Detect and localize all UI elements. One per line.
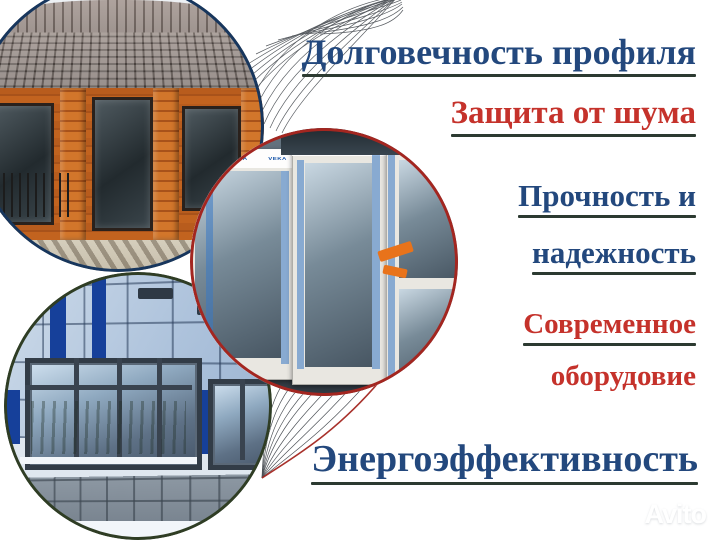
- headline-item-2: Прочность и: [518, 180, 696, 218]
- headline-underline-5: [551, 395, 696, 398]
- avito-watermark-label: Avito: [645, 499, 707, 530]
- headline-item-3: надежность: [532, 237, 696, 275]
- headline-text-6: Энергоэффективность: [311, 440, 698, 478]
- headline-list: Долговечность профиля Защита от шума Про…: [0, 0, 720, 540]
- headline-text-4: Современное: [523, 310, 696, 339]
- headline-text-5: оборудовие: [551, 362, 696, 391]
- headline-text-1: Защита от шума: [451, 97, 696, 130]
- headline-underline-2: [518, 215, 696, 218]
- headline-text-3: надежность: [532, 237, 696, 268]
- avito-logo-icon: [614, 502, 640, 528]
- headline-underline-4: [523, 343, 696, 346]
- advertisement-banner: VEKAVEKAVEKA VEKAVEKA VEKAVEKA: [0, 0, 720, 540]
- headline-underline-1: [451, 134, 696, 137]
- headline-underline-0: [302, 74, 696, 77]
- headline-item-1: Защита от шума: [451, 97, 696, 137]
- headline-text-0: Долговечность профиля: [302, 34, 696, 70]
- headline-item-6: Энергоэффективность: [311, 440, 698, 485]
- avito-watermark: Avito: [614, 499, 707, 530]
- headline-item-0: Долговечность профиля: [302, 34, 696, 77]
- headline-item-5: оборудовие: [551, 362, 696, 398]
- headline-underline-6: [311, 482, 698, 485]
- headline-underline-3: [532, 272, 696, 275]
- headline-text-2: Прочность и: [518, 180, 696, 211]
- headline-item-4: Современное: [523, 310, 696, 346]
